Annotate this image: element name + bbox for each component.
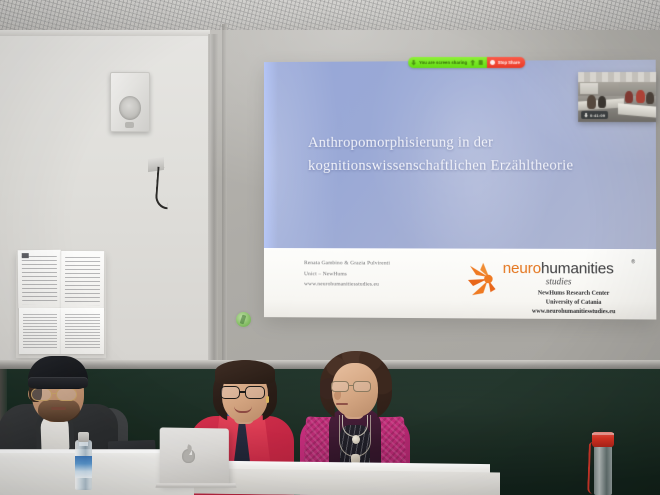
glasses-lens [31,388,52,401]
pip-person [636,90,645,103]
remote-camera-pip[interactable]: 0:41:09 [578,72,656,122]
bottle-body [594,446,612,495]
bottle-cap [78,432,89,442]
logo-wordmark: neurohumanities [503,260,614,278]
stop-dot-icon [490,60,495,65]
speaker-cone-icon [119,96,141,120]
screen-share-icon [411,60,416,66]
pip-person [646,92,654,104]
stop-share-label: Stop Share [498,60,520,65]
slide-title: Anthropomorphisierung in der kognitionsw… [308,131,634,179]
pip-timer-label: 0:41:09 [590,112,605,117]
necklace-pendant [352,435,360,444]
acoustic-ceiling [0,0,660,34]
neurohumanities-logo: neurohumanities ® studies NewHums Resear… [466,254,647,316]
slide-website: www.neurohumanitiesstudies.eu [304,279,491,290]
glasses-lens [56,388,77,401]
handout-sheet [19,308,61,354]
pip-person [625,91,633,103]
glasses-bridge [240,391,245,393]
panelist-right-nose [334,391,341,400]
panelist-middle-glasses-icon [220,386,270,399]
slide-affiliation: Unict – NewHums [304,269,491,280]
handout-text-lines [23,314,57,350]
panelist-left-mouth [51,407,66,410]
slide-credit-block: Renata Gambino & Grazia Pulvirenti Unict… [304,258,491,291]
wall-speaker [110,72,150,132]
panelist-middle-hair-top [215,360,275,384]
pip-window [580,83,598,94]
glasses-lens [220,386,240,399]
pip-person [598,96,606,108]
water-bottle [75,432,92,490]
bottle-cap-rim [592,433,614,435]
bottle-cap [592,432,614,447]
handout-text-lines [65,257,100,305]
logo-word-humanities: humanities [541,260,614,278]
macbook-base [155,483,236,487]
logo-caption-line-3: www.neurohumanitiesstudies.eu [501,308,647,318]
pause-icon[interactable] [470,59,475,65]
slide-title-line-1: Anthropomorphisierung in der [308,131,634,155]
lecture-room-photo: Anthropomorphisierung in der kognitionsw… [0,0,660,495]
logo-subword: studies [546,276,572,286]
sharing-status-pill: You are screen sharing [408,57,487,68]
glasses-bridge [52,393,57,394]
macbook-lid [160,427,229,484]
glasses-lens [331,381,349,392]
video-icon [584,112,588,117]
handout-text-lines [22,256,58,304]
sharing-status-label: You are screen sharing [419,60,467,65]
green-round-wall-sticker-icon [236,312,251,327]
bottle-label [75,456,92,478]
logo-word-neuro: neuro [503,260,541,277]
panelist-left-glasses-icon [30,388,86,401]
pip-timer-badge: 0:41:09 [581,111,608,119]
panelist-left-beard [38,400,80,422]
logo-caption: NewHums Research Center University of Ca… [501,289,647,318]
logo-registered-mark: ® [631,259,635,265]
speaker-tweeter-icon [125,122,134,128]
screen-share-toolbar[interactable]: You are screen sharing Stop Share [408,57,525,68]
printed-handouts-on-wall [18,250,104,354]
pip-person [587,95,596,109]
glasses-bridge [349,385,353,386]
slide-title-line-2: kognitionswissenschaftlichen Erzähltheor… [308,155,634,179]
handout-sheet [61,308,104,354]
handout-sheet [18,250,62,308]
panelist-left-beanie-cuff [28,377,88,388]
glasses-lens [353,381,371,392]
stop-share-button[interactable]: Stop Share [487,57,525,68]
red-cap-bottle [592,432,614,495]
panelist-right-glasses-icon [331,381,375,392]
annotate-icon[interactable] [478,59,483,65]
handout-sheet [61,251,104,309]
glasses-lens [245,386,265,399]
handout-text-lines [65,314,100,350]
panelist-right-mouth [336,403,348,405]
slide-authors: Renata Gambino & Grazia Pulvirenti [304,258,491,269]
apple-logo-icon [182,449,195,463]
